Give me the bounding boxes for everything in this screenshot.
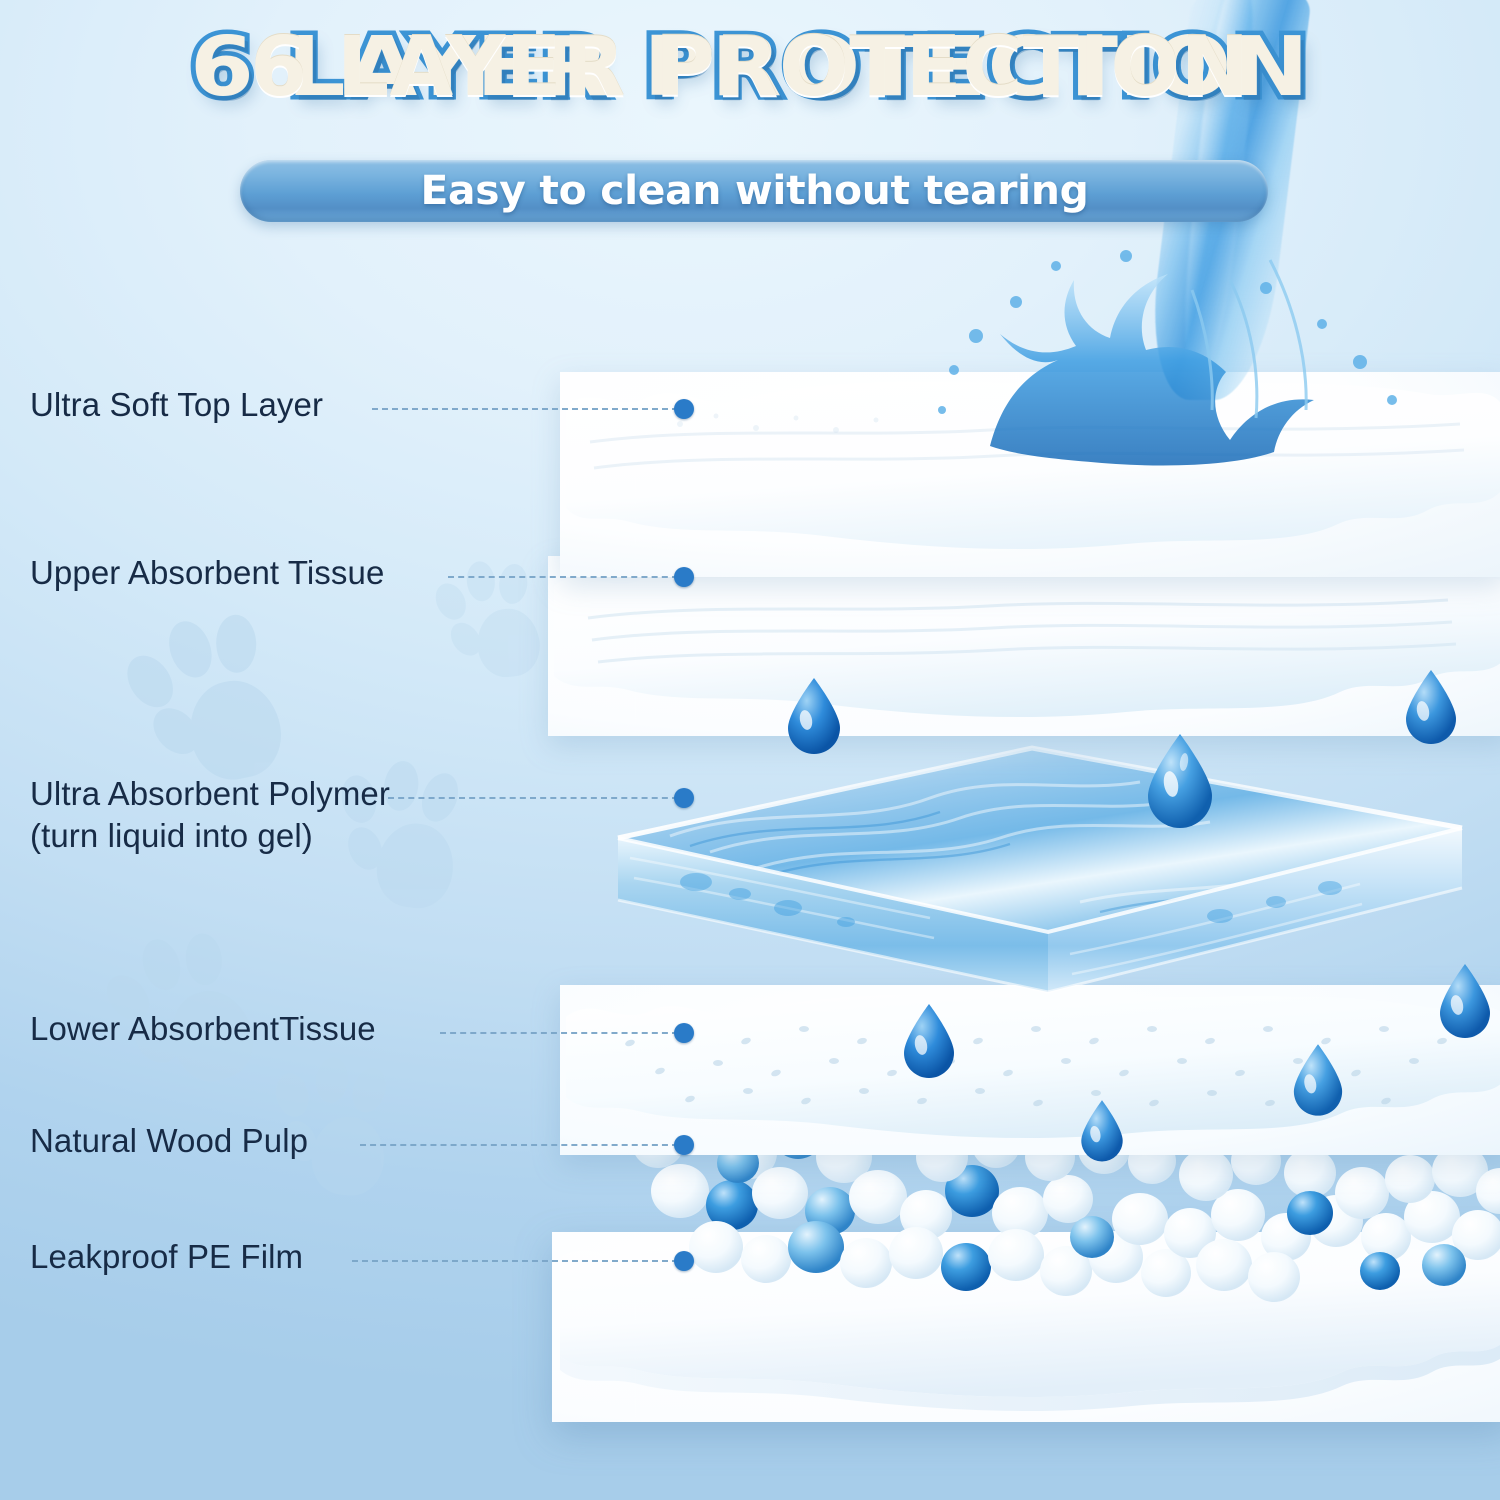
callout-label-upper-absorbent-tissue: Upper Absorbent Tissue (30, 552, 384, 594)
callout-label-lower-absorbent-tissue: Lower AbsorbentTissue (30, 1008, 376, 1050)
subtitle-text: Easy to clean without tearing (420, 168, 1088, 214)
leader-dot-ultra-absorbent-polymer (674, 788, 694, 808)
leader-line-ultra-soft-top-layer (372, 408, 678, 410)
callout-label-leakproof-pe-film: Leakproof PE Film (30, 1236, 303, 1278)
callout-lower-absorbent-tissue: Lower AbsorbentTissue (30, 1008, 376, 1050)
water-droplet (1078, 1098, 1126, 1162)
page-title-block: 6 LAYER PROTECTION 6 LAYER PROTECTION (0, 26, 1500, 110)
callout-leakproof-pe-film: Leakproof PE Film (30, 1236, 303, 1278)
leader-dot-lower-absorbent-tissue (674, 1023, 694, 1043)
layer-lower-absorbent-tissue (560, 985, 1500, 1155)
leader-line-ultra-absorbent-polymer (388, 797, 678, 799)
leader-line-natural-wood-pulp (360, 1144, 678, 1146)
subtitle-banner: Easy to clean without tearing (240, 160, 1268, 222)
callout-natural-wood-pulp: Natural Wood Pulp (30, 1120, 308, 1162)
leader-line-upper-absorbent-tissue (448, 576, 678, 578)
water-droplet (1144, 732, 1216, 828)
leader-line-lower-absorbent-tissue (440, 1032, 678, 1034)
water-droplet (1290, 1042, 1346, 1116)
water-droplet (900, 1002, 958, 1078)
leader-dot-ultra-soft-top-layer (674, 399, 694, 419)
callout-label-natural-wood-pulp: Natural Wood Pulp (30, 1120, 308, 1162)
callout-label-ultra-soft-top-layer: Ultra Soft Top Layer (30, 384, 323, 426)
water-droplet (1436, 962, 1494, 1038)
water-droplet (1402, 668, 1460, 744)
callout-label-ultra-absorbent-polymer: Ultra Absorbent Polymer (turn liquid int… (30, 773, 390, 857)
top-layer-shape (560, 372, 1500, 577)
leader-dot-leakproof-pe-film (674, 1251, 694, 1271)
callout-upper-absorbent-tissue: Upper Absorbent Tissue (30, 552, 384, 594)
page-title: 6 LAYER PROTECTION (190, 26, 1309, 110)
callout-ultra-soft-top-layer: Ultra Soft Top Layer (30, 384, 323, 426)
layer-ultra-absorbent-polymer (600, 742, 1480, 1004)
leader-dot-upper-absorbent-tissue (674, 567, 694, 587)
callout-ultra-absorbent-polymer: Ultra Absorbent Polymer (turn liquid int… (30, 773, 390, 857)
leader-line-leakproof-pe-film (352, 1260, 678, 1262)
infographic-canvas: 6 LAYER PROTECTION 6 LAYER PROTECTION Ea… (0, 0, 1500, 1500)
lower-tissue-shape (560, 985, 1500, 1155)
gel-slab-shape (600, 742, 1480, 1004)
page-title-overlay: 6 LAYER PROTECTION (250, 26, 1249, 110)
water-droplet (784, 676, 844, 754)
leader-dot-natural-wood-pulp (674, 1135, 694, 1155)
layer-ultra-soft-top (560, 372, 1500, 577)
